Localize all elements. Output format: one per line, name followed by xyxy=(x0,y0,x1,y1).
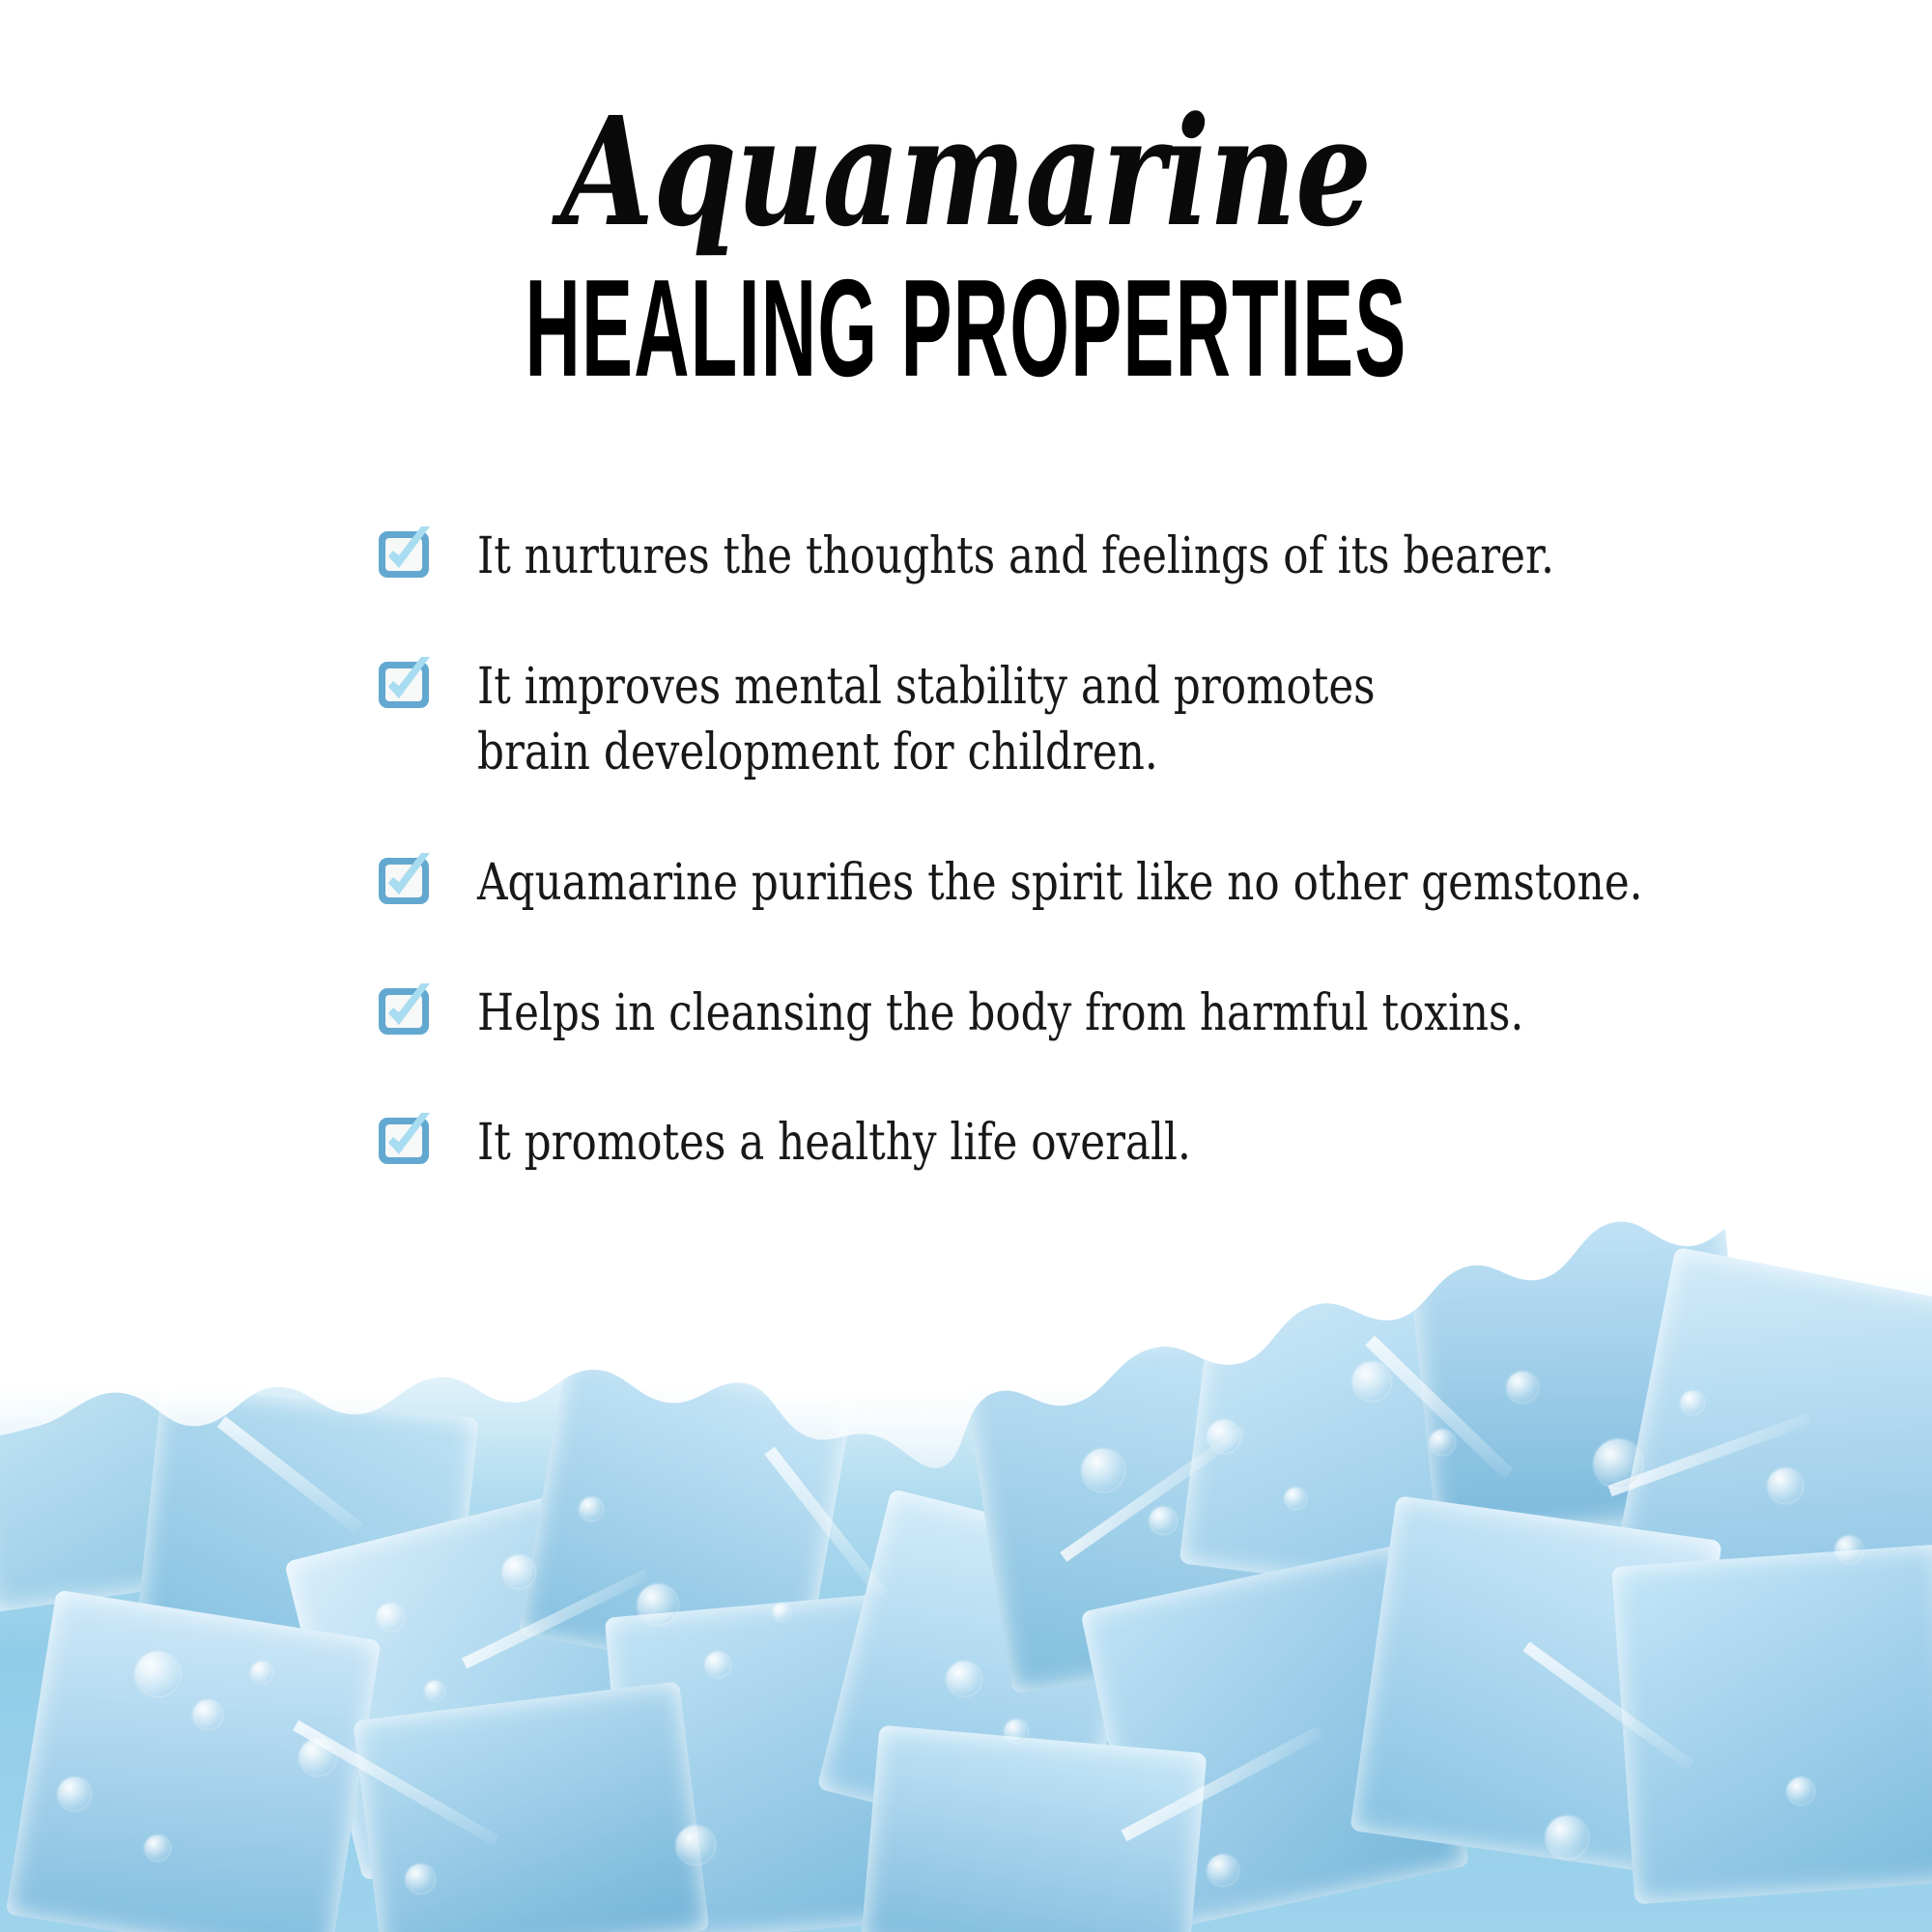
ice-bubble xyxy=(425,1681,444,1700)
ice-bubble xyxy=(1207,1855,1238,1886)
list-item-text: It promotes a healthy life overall. xyxy=(477,1108,1191,1177)
ice-cube xyxy=(353,1681,709,1932)
ice-bubble xyxy=(638,1584,678,1625)
ice-bubble xyxy=(705,1652,730,1677)
ice-bubble xyxy=(1207,1420,1240,1453)
ice-bubble xyxy=(58,1777,91,1810)
ice-bubble xyxy=(135,1652,180,1696)
ice-bubble xyxy=(1787,1777,1814,1804)
ice-bubble xyxy=(1507,1372,1538,1403)
ice-bubble xyxy=(1352,1362,1391,1401)
list-item-text: It improves mental stability and promote… xyxy=(477,652,1376,786)
checkbox-checked-icon xyxy=(377,526,435,583)
ice-bubble xyxy=(1150,1507,1177,1534)
list-item: Helps in cleansing the body from harmful… xyxy=(377,979,1884,1047)
list-item: Aquamarine purifies the spirit like no o… xyxy=(377,848,1884,917)
ice-bubble xyxy=(1594,1439,1642,1488)
poster-canvas: Aquamarine HEALING PROPERTIES It nurture… xyxy=(0,0,1932,1932)
list-item: It nurtures the thoughts and feelings of… xyxy=(377,522,1884,590)
ice-bubble xyxy=(377,1604,404,1631)
list-item-text: Helps in cleansing the body from harmful… xyxy=(477,979,1523,1047)
ice-cubes-photo xyxy=(0,1198,1932,1932)
list-item: It promotes a healthy life overall. xyxy=(377,1108,1884,1177)
ice-bubble xyxy=(502,1555,535,1588)
ice-bubble xyxy=(251,1662,272,1683)
page-subtitle: HEALING PROPERTIES xyxy=(367,260,1565,398)
ice-bubble xyxy=(1835,1536,1862,1563)
ice-bubble xyxy=(1082,1449,1124,1492)
ice-bubble xyxy=(947,1662,981,1696)
ice-bubble xyxy=(773,1604,790,1621)
ice-bubble xyxy=(1681,1391,1704,1414)
ice-bubble xyxy=(193,1700,222,1729)
list-item: It improves mental stability and promote… xyxy=(377,652,1884,786)
ice-bubble xyxy=(1768,1468,1803,1503)
ice-bubble xyxy=(1546,1816,1588,1859)
ice-bubble xyxy=(406,1864,435,1893)
list-item-text: Aquamarine purifies the spirit like no o… xyxy=(477,848,1643,917)
ice-cube xyxy=(861,1725,1207,1932)
header: Aquamarine HEALING PROPERTIES xyxy=(0,97,1932,384)
ice-bubble xyxy=(1005,1719,1028,1743)
ice-bubble xyxy=(299,1739,336,1776)
list-item-text: It nurtures the thoughts and feelings of… xyxy=(477,522,1554,590)
healing-properties-list: It nurtures the thoughts and feelings of… xyxy=(377,522,1884,1177)
ice-cube xyxy=(1611,1545,1932,1905)
ice-bubble xyxy=(580,1497,603,1520)
checkbox-checked-icon xyxy=(377,982,435,1040)
ice-bubble xyxy=(1430,1430,1455,1455)
checkbox-checked-icon xyxy=(377,852,435,910)
ice-bubble xyxy=(676,1826,715,1864)
page-title: Aquamarine xyxy=(193,97,1739,246)
ice-bubble xyxy=(145,1835,170,1861)
checkbox-checked-icon xyxy=(377,656,435,714)
checkbox-checked-icon xyxy=(377,1112,435,1170)
ice-bubble xyxy=(1285,1488,1306,1509)
